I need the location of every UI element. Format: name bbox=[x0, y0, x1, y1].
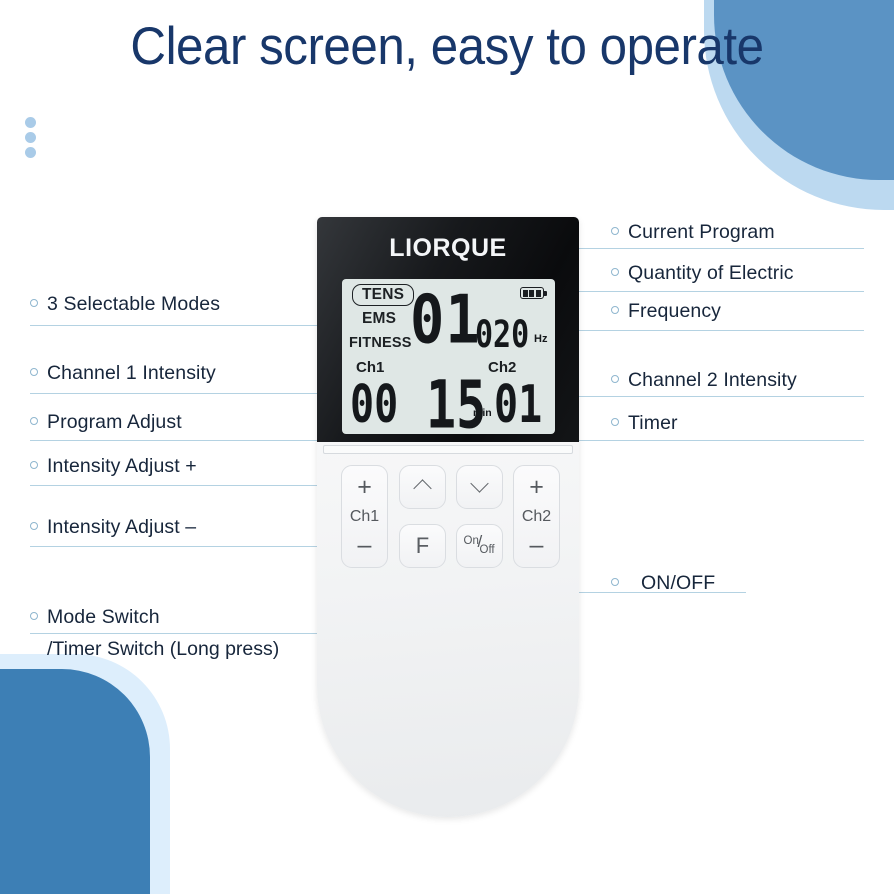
frequency-value: 020 bbox=[475, 313, 529, 357]
callout-label: Timer bbox=[628, 412, 678, 435]
callout-label: Intensity Adjust – bbox=[47, 516, 196, 539]
callout-label: Quantity of Electric bbox=[628, 262, 794, 285]
callout-timer: Timer bbox=[611, 412, 678, 435]
callout-mode-switch: Mode Switch /Timer Switch (Long press) bbox=[30, 606, 279, 661]
callout-label: Frequency bbox=[628, 300, 721, 323]
callout-label: Mode Switch bbox=[47, 606, 160, 629]
ch1-value: 00 bbox=[350, 375, 398, 435]
page-title: Clear screen, easy to operate bbox=[31, 16, 862, 77]
callout-onoff: ON/OFF bbox=[611, 572, 715, 595]
callout-label: Current Program bbox=[628, 221, 775, 244]
chevron-up-icon bbox=[414, 478, 432, 496]
leader-line-frequency bbox=[545, 330, 864, 331]
leader-line-ch2-intensity bbox=[551, 396, 864, 397]
callout-frequency: Frequency bbox=[611, 300, 721, 323]
function-button-label: F bbox=[416, 533, 429, 559]
corner-decor-bottom-left-dark bbox=[0, 669, 150, 894]
bullet-icon bbox=[611, 578, 619, 586]
ch1-intensity-button[interactable]: + Ch1 – bbox=[341, 465, 388, 568]
mode-tens[interactable]: TENS bbox=[352, 284, 414, 306]
callout-ch1-intensity: Channel 1 Intensity bbox=[30, 362, 216, 385]
callout-intensity-minus: Intensity Adjust – bbox=[30, 516, 196, 539]
callout-intensity-plus: Intensity Adjust + bbox=[30, 455, 197, 478]
callout-label: Channel 2 Intensity bbox=[628, 369, 797, 392]
brand-logo: LIORQUE bbox=[317, 234, 579, 263]
program-down-button[interactable] bbox=[456, 465, 503, 509]
mode-ems[interactable]: EMS bbox=[362, 310, 396, 328]
leader-line-intensity-plus bbox=[30, 485, 340, 486]
bullet-icon bbox=[30, 461, 38, 469]
mode-fitness[interactable]: FITNESS bbox=[349, 335, 412, 351]
callout-ch2-intensity: Channel 2 Intensity bbox=[611, 369, 797, 392]
bullet-icon bbox=[611, 418, 619, 426]
battery-icon bbox=[520, 287, 544, 299]
chevron-down-icon bbox=[471, 478, 489, 496]
callout-label: Channel 1 Intensity bbox=[47, 362, 216, 385]
ch2-value: 01 bbox=[494, 375, 542, 435]
ch2-intensity-button[interactable]: + Ch2 – bbox=[513, 465, 560, 568]
ch2-plus-label: + bbox=[529, 475, 544, 500]
infographic-canvas: Clear screen, easy to operate 3 Selectab… bbox=[0, 0, 894, 894]
callout-label: Intensity Adjust + bbox=[47, 455, 197, 478]
lcd-ch1-label: Ch1 bbox=[356, 359, 384, 376]
power-button[interactable]: On / Off bbox=[456, 524, 503, 568]
timer-unit: min bbox=[473, 407, 492, 419]
callout-quantity-of-electric: Quantity of Electric bbox=[611, 262, 794, 285]
leader-line-intensity-minus bbox=[30, 546, 340, 547]
leader-line-quantity bbox=[530, 291, 864, 292]
timer-value: 15 bbox=[426, 367, 486, 444]
dots-decor-icon bbox=[25, 117, 36, 162]
program-value: 01 bbox=[410, 281, 481, 359]
leader-line-modes bbox=[30, 325, 345, 326]
bullet-icon bbox=[30, 299, 38, 307]
device-grille bbox=[323, 445, 573, 454]
bullet-icon bbox=[611, 227, 619, 235]
callout-label: 3 Selectable Modes bbox=[47, 293, 220, 316]
callout-label: ON/OFF bbox=[641, 572, 715, 595]
ch1-minus-label: – bbox=[358, 533, 372, 558]
ch1-button-label: Ch1 bbox=[350, 508, 379, 526]
callout-program-adjust: Program Adjust bbox=[30, 411, 182, 434]
bullet-icon bbox=[30, 612, 38, 620]
bullet-icon bbox=[611, 375, 619, 383]
power-button-label: On / Off bbox=[460, 533, 500, 559]
bullet-icon bbox=[30, 417, 38, 425]
tens-unit-device: LIORQUE TENS EMS FITNESS 01 020 Hz Ch1 C… bbox=[317, 217, 579, 817]
bullet-icon bbox=[30, 522, 38, 530]
program-up-button[interactable] bbox=[399, 465, 446, 509]
leader-line-ch1-intensity bbox=[30, 393, 360, 394]
ch1-plus-label: + bbox=[357, 475, 372, 500]
bullet-icon bbox=[611, 268, 619, 276]
callout-modes: 3 Selectable Modes bbox=[30, 293, 220, 316]
ch2-minus-label: – bbox=[530, 533, 544, 558]
callout-label-secondary: /Timer Switch (Long press) bbox=[30, 638, 279, 661]
callout-label: Program Adjust bbox=[47, 411, 182, 434]
bullet-icon bbox=[30, 368, 38, 376]
ch2-button-label: Ch2 bbox=[522, 508, 551, 526]
bullet-icon bbox=[611, 306, 619, 314]
frequency-unit: Hz bbox=[534, 333, 547, 345]
power-off-text: Off bbox=[480, 545, 495, 557]
lcd-ch2-label: Ch2 bbox=[488, 359, 516, 376]
lcd-screen: TENS EMS FITNESS 01 020 Hz Ch1 Ch2 00 15… bbox=[342, 279, 555, 434]
callout-current-program: Current Program bbox=[611, 221, 775, 244]
function-mode-button[interactable]: F bbox=[399, 524, 446, 568]
